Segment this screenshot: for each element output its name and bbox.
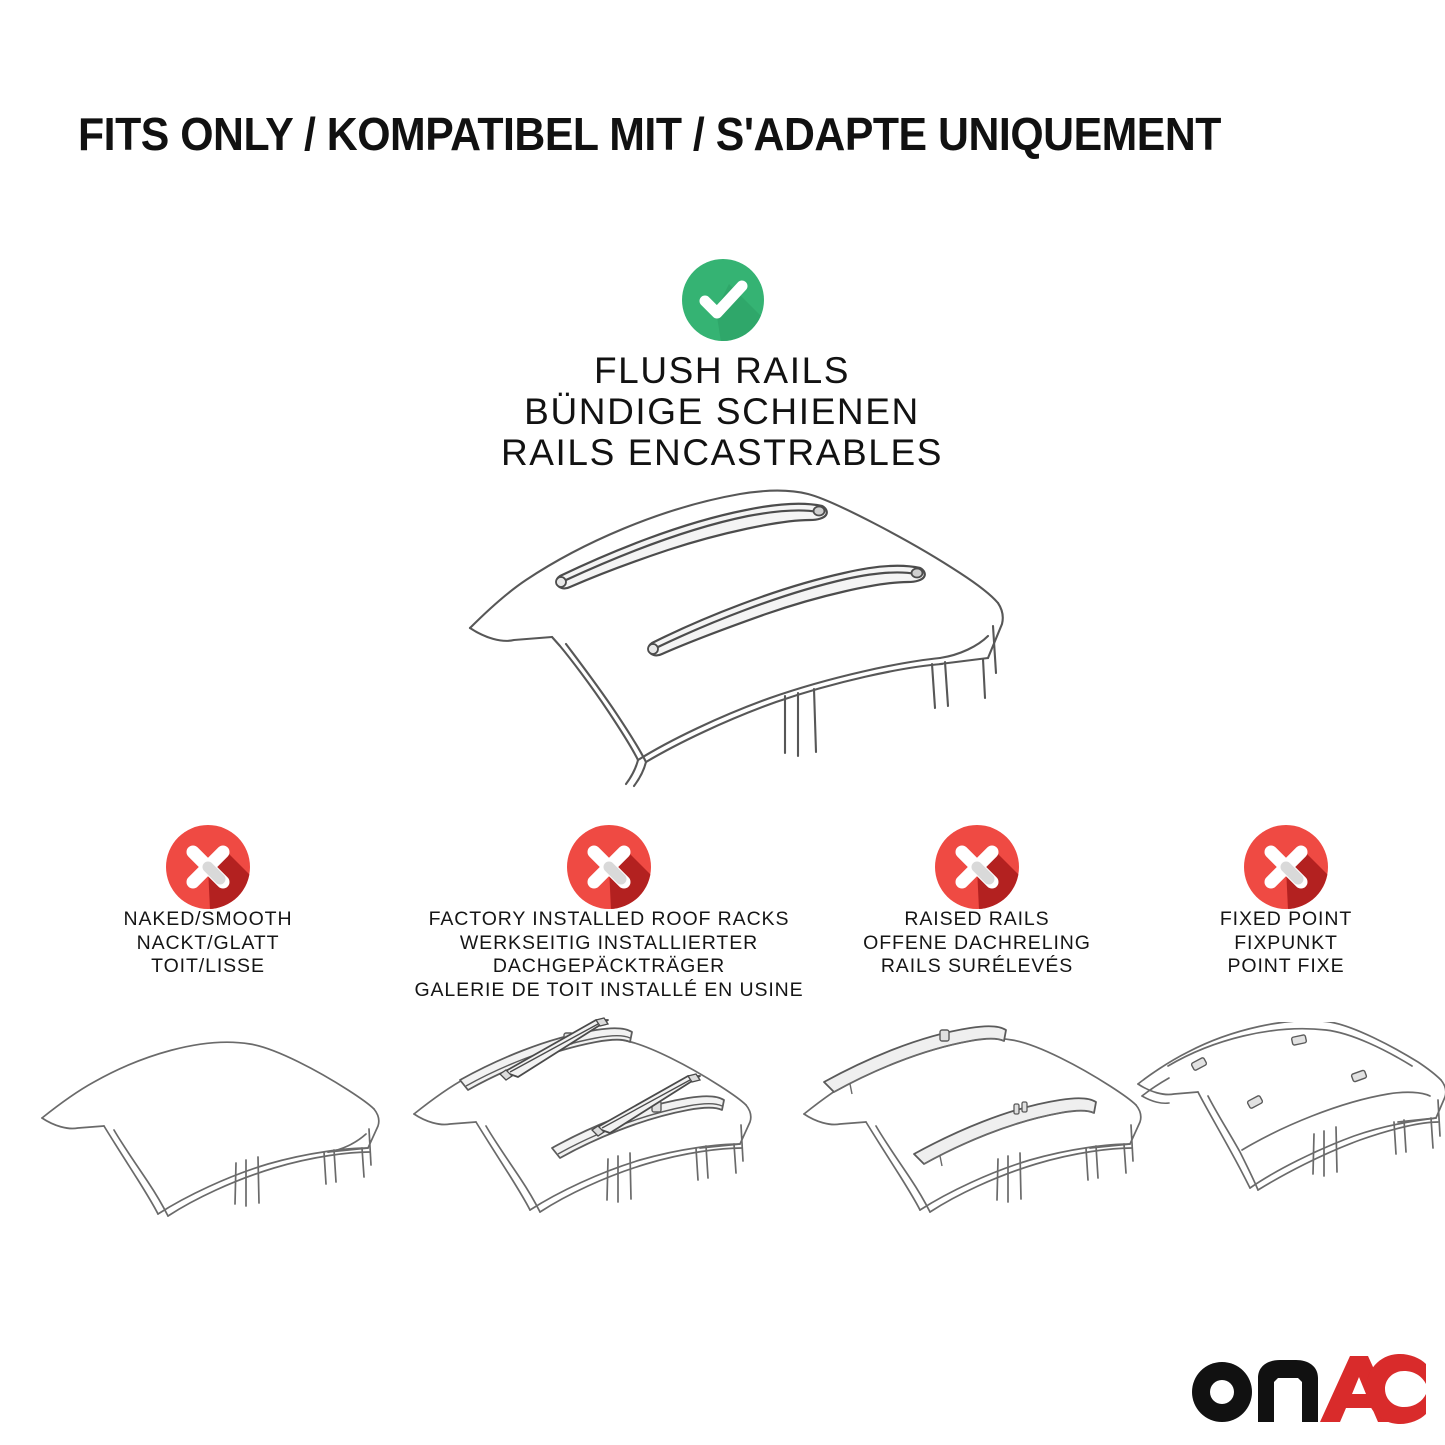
label-line: RAILS SURÉLEVÉS [817, 955, 1137, 979]
label-factory-installed-roof-racks: FACTORY INSTALLED ROOF RACKS WERKSEITIG … [369, 908, 849, 1002]
label-line: FIXPUNKT [1126, 932, 1445, 956]
red-x-circle-icon [165, 824, 251, 910]
label-line: WERKSEITIG INSTALLIERTER [369, 932, 849, 956]
label-line: TOIT/LISSE [38, 955, 378, 979]
logo-letter-o [1192, 1362, 1252, 1422]
red-x-circle-icon [1243, 824, 1329, 910]
red-x-circle-icon [934, 824, 1020, 910]
omac-logo [1188, 1352, 1426, 1426]
car-roof-flush-rails-illustration [440, 468, 1020, 788]
label-line: RAISED RAILS [817, 908, 1137, 932]
label-line: OFFENE DACHRELING [817, 932, 1137, 956]
label-fixed-point: FIXED POINT FIXPUNKT POINT FIXE [1126, 908, 1445, 979]
flush-rails-label-fr: RAILS ENCASTRABLES [222, 432, 1222, 473]
flush-rails-label-group: FLUSH RAILS BÜNDIGE SCHIENEN RAILS ENCAS… [222, 350, 1222, 473]
car-roof-fixed-point-illustration [1130, 1022, 1445, 1227]
page-title: FITS ONLY / KOMPATIBEL MIT / S'ADAPTE UN… [78, 108, 1287, 160]
label-raised-rails: RAISED RAILS OFFENE DACHRELING RAILS SUR… [817, 908, 1137, 979]
label-line: NAKED/SMOOTH [38, 908, 378, 932]
label-line: FACTORY INSTALLED ROOF RACKS [369, 908, 849, 932]
flush-rails-label-de: BÜNDIGE SCHIENEN [222, 391, 1222, 432]
car-roof-naked-smooth-illustration [28, 1022, 408, 1227]
label-line: NACKT/GLATT [38, 932, 378, 956]
label-line: DACHGEPÄCKTRÄGER [369, 955, 849, 979]
green-check-circle-icon [681, 258, 765, 342]
label-line: POINT FIXE [1126, 955, 1445, 979]
label-line: GALERIE DE TOIT INSTALLÉ EN USINE [369, 979, 849, 1003]
red-x-circle-icon [566, 824, 652, 910]
logo-letter-m [1258, 1360, 1318, 1422]
car-roof-factory-racks-illustration [400, 1002, 780, 1227]
compatibility-infographic: FITS ONLY / KOMPATIBEL MIT / S'ADAPTE UN… [0, 0, 1445, 1445]
car-roof-raised-rails-illustration [790, 1012, 1170, 1227]
flush-rails-label-en: FLUSH RAILS [222, 350, 1222, 391]
label-naked-smooth: NAKED/SMOOTH NACKT/GLATT TOIT/LISSE [38, 908, 378, 979]
label-line: FIXED POINT [1126, 908, 1445, 932]
